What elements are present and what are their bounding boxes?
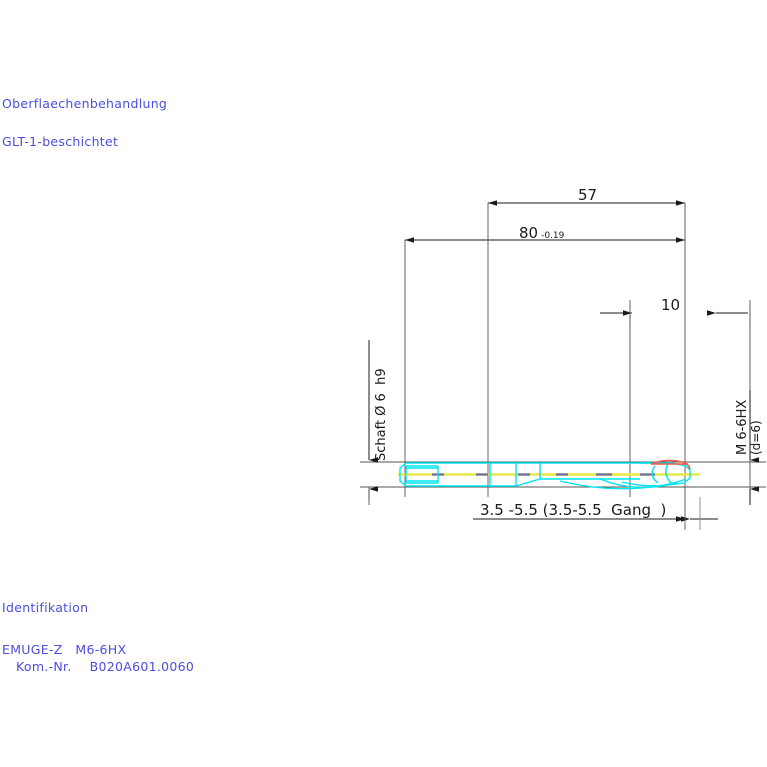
dim-label-80: 80 <box>519 224 538 242</box>
surface-treatment-value: GLT-1-beschichtet <box>2 134 167 149</box>
dim-label-pitch-range: 3.5 -5.5 (3.5-5.5 Gang ) <box>480 501 666 519</box>
identification-kom-label: Kom.-Nr. <box>16 659 72 674</box>
identification-kom-value: B020A601.0060 <box>90 659 195 674</box>
dim-label-thread-spec-2: (d=6) <box>749 420 763 455</box>
identification-block: Identifikation EMUGE-Z M6-6HX Kom.-Nr. B… <box>2 600 194 674</box>
dim-label-57: 57 <box>578 186 597 204</box>
dim-label-10: 10 <box>661 296 680 314</box>
tool-outline <box>400 463 690 489</box>
dim-label-80-group: 80 -0.19 <box>519 224 564 242</box>
surface-treatment-heading: Oberflaechenbehandlung <box>2 96 167 111</box>
dim-label-shank: Schaft Ø 6 h9 <box>374 368 389 461</box>
extension-lines <box>405 203 750 497</box>
identification-line1: EMUGE-Z M6-6HX <box>2 642 194 657</box>
identification-heading: Identifikation <box>2 600 194 615</box>
dim-label-thread-spec-1: M 6-6HX <box>735 400 750 455</box>
surface-treatment-block: Oberflaechenbehandlung GLT-1-beschichtet <box>2 96 167 149</box>
dim-label-80-tolerance: -0.19 <box>538 231 564 242</box>
